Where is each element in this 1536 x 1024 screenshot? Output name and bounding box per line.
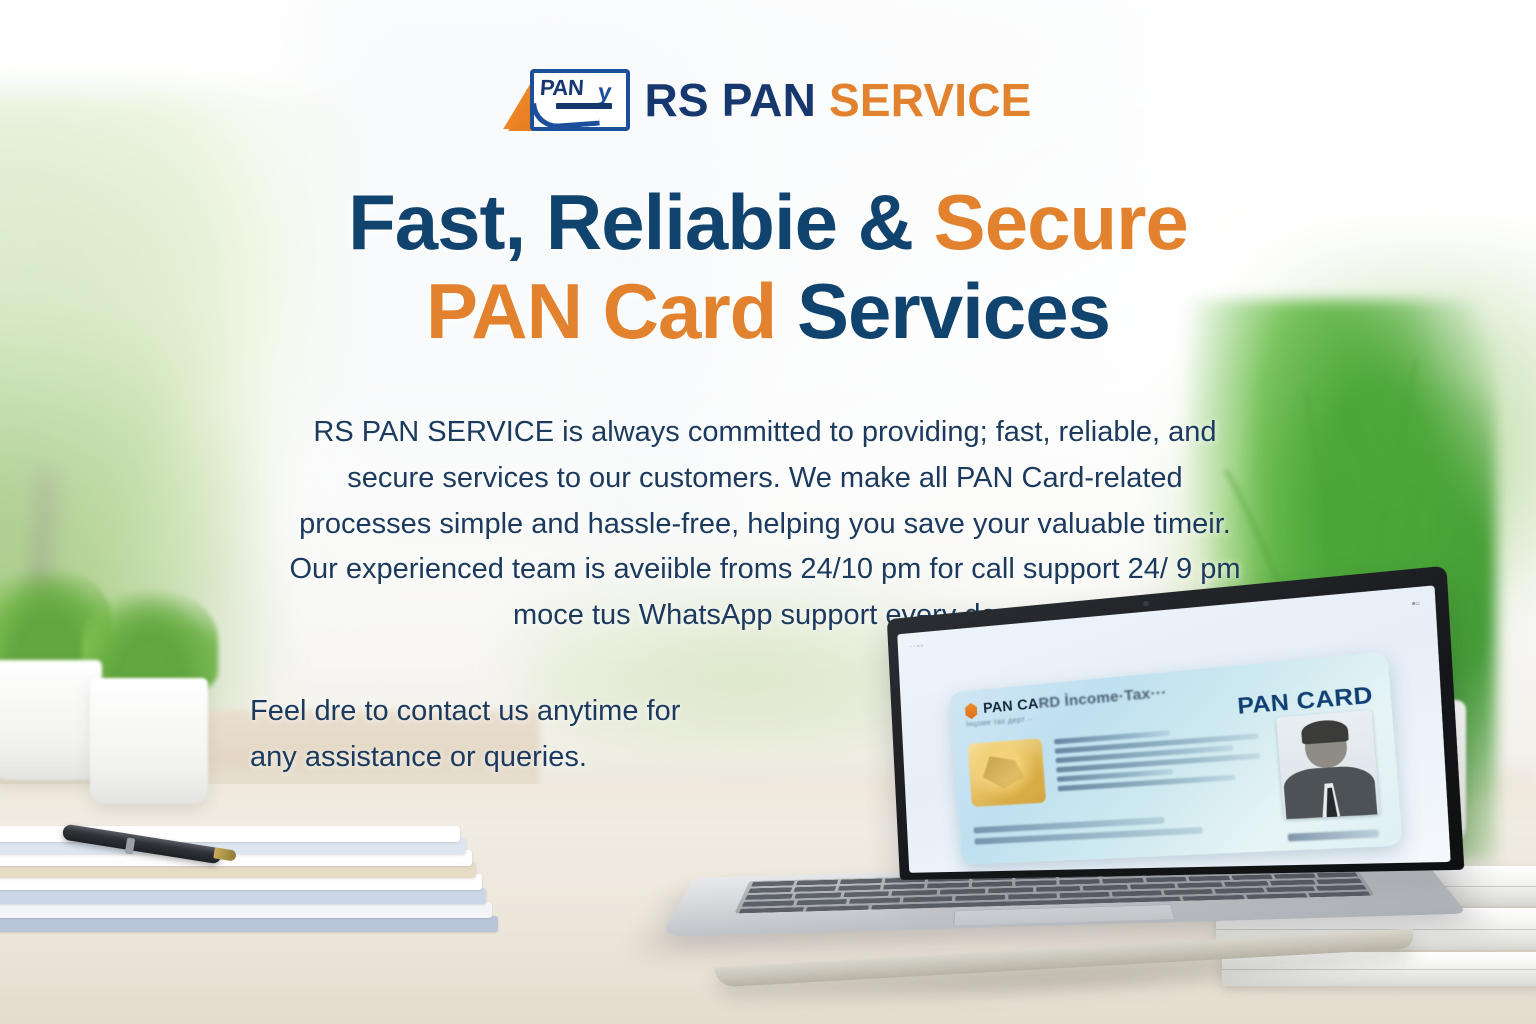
- headline-line-1: Fast, Reliabie & Secure: [0, 178, 1536, 267]
- headline-line2-orange: PAN Card: [426, 267, 776, 355]
- pan-card-detail-lines: [1054, 723, 1262, 795]
- poster-canvas: PAN y RS PAN SERVICE Fast, Reliabie & Se…: [0, 0, 1536, 1024]
- plant-pot: [0, 660, 102, 780]
- brand-name-blue: RS PAN: [644, 74, 816, 126]
- pan-card-emblem-icon: [965, 702, 978, 719]
- pan-card-title-clear: PAN CA: [983, 695, 1040, 716]
- pan-card-preview[interactable]: PAN CARD İncome·Tax··· İнцоме тах дерт ·…: [950, 651, 1403, 864]
- webcam-icon: [1143, 601, 1149, 607]
- body-line-4: Our experienced team is aveiible froms 2…: [190, 547, 1340, 593]
- laptop-device: ··▫▫ ▪▫ PAN CARD İncome·Tax··· İнцоме та…: [700, 618, 1440, 1018]
- brand-header: PAN y RS PAN SERVICE: [0, 62, 1536, 138]
- screen-statusbar-right: ▪▫: [1411, 597, 1420, 609]
- logo-underline-bar: [556, 103, 612, 109]
- logo-pan-text: PAN: [540, 75, 585, 101]
- plant-pot: [90, 678, 208, 804]
- headline-line1-orange: Secure: [913, 178, 1188, 266]
- headline-line2-blue: Services: [776, 267, 1110, 355]
- body-line-2: secure services to our customers. We mak…: [190, 456, 1340, 502]
- body-line-3: processes simple and hassle-free, helpin…: [190, 502, 1340, 548]
- page-title: Fast, Reliabie & Secure PAN Card Service…: [0, 178, 1536, 356]
- headline-line-2: PAN Card Services: [0, 267, 1536, 356]
- pan-card-footer-lines: [974, 814, 1224, 850]
- laptop-trackpad[interactable]: [953, 904, 1176, 926]
- gold-emblem-icon: [967, 738, 1046, 807]
- headline-line1-blue: Fast, Reliabie &: [348, 178, 913, 266]
- portrait-photo-icon: [1276, 710, 1380, 820]
- signature-icon: [1288, 829, 1380, 841]
- laptop-screen[interactable]: ··▫▫ ▪▫ PAN CARD İncome·Tax··· İнцоме та…: [897, 585, 1451, 872]
- screen-statusbar-left: ··▫▫: [909, 641, 924, 651]
- body-line-1: RS PAN SERVICE is always committed to pr…: [190, 410, 1340, 456]
- pan-card-subtitle: İнцоме тах дерт ··: [966, 716, 1034, 729]
- laptop-lid: ··▫▫ ▪▫ PAN CARD İncome·Tax··· İнцоме та…: [887, 566, 1465, 880]
- brand-name-orange: SERVICE: [816, 74, 1032, 126]
- pan-card-title-blurred: RD İncome·Tax···: [1038, 683, 1167, 711]
- pan-card-title: PAN CARD İncome·Tax···: [983, 683, 1168, 716]
- brand-name: RS PAN SERVICE: [644, 73, 1031, 127]
- pan-logo-icon[interactable]: PAN y: [504, 67, 626, 133]
